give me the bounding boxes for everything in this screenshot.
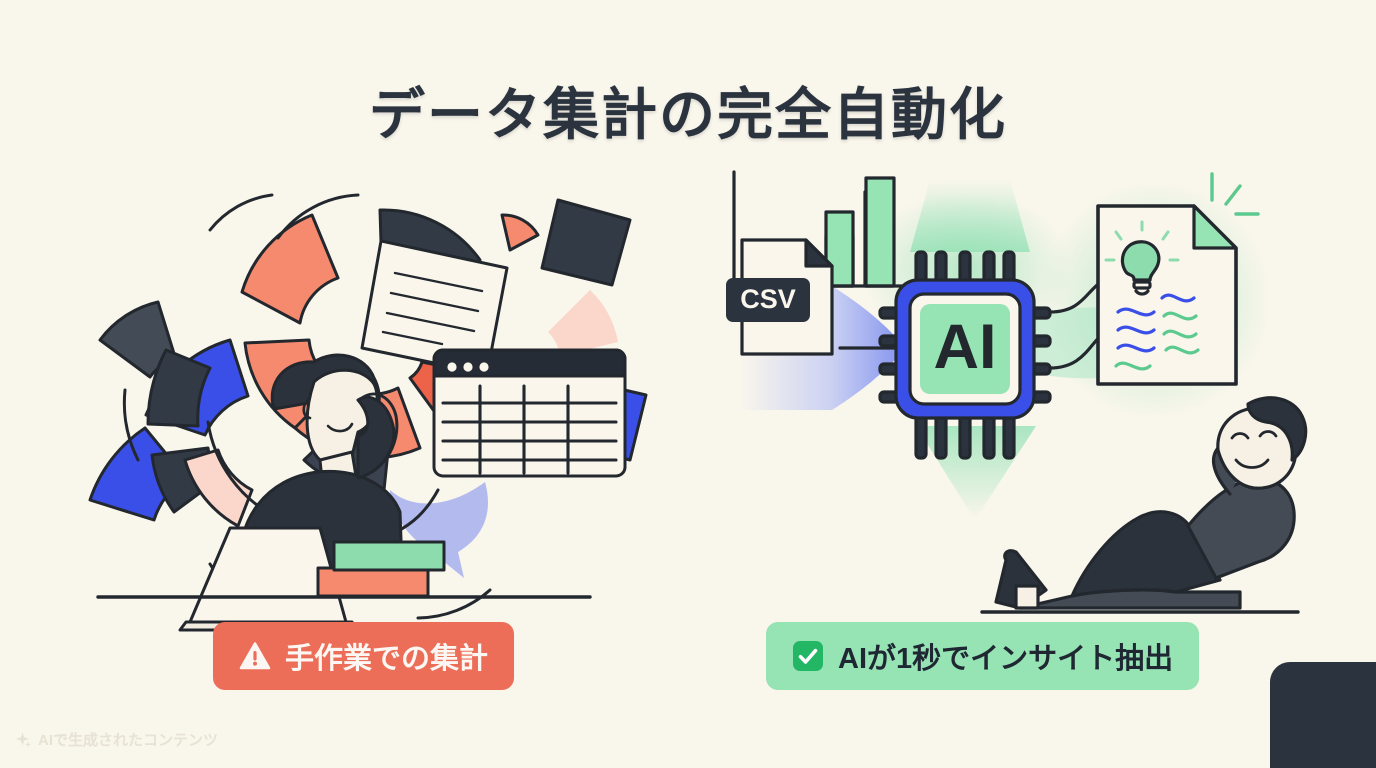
spreadsheet-window (434, 350, 625, 476)
bar-4 (866, 178, 894, 286)
left-panel (90, 160, 660, 630)
slide-canvas: データ集計の完全自動化 (0, 0, 1376, 768)
ai-generated-footer-label: AIで生成されたコンテンツ (38, 729, 218, 750)
right-panel: CSV (720, 160, 1300, 630)
status-badge-ai-label: AIが1秒でインサイト抽出 (838, 635, 1173, 677)
status-badge-manual-label: 手作業での集計 (285, 635, 488, 677)
beam-down (916, 426, 1036, 520)
status-badge-manual[interactable]: 手作業での集計 (213, 622, 514, 690)
beam-up (910, 180, 1030, 252)
ai-automation-illustration: CSV (720, 160, 1300, 630)
manual-aggregation-chaos-illustration (90, 160, 660, 630)
warning-triangle-icon (239, 640, 271, 672)
status-badge-ai[interactable]: AIが1秒でインサイト抽出 (766, 622, 1199, 690)
chip-label: AI (934, 312, 997, 382)
corner-triangle (1240, 630, 1376, 768)
check-square-icon (792, 640, 824, 672)
ai-generated-footer: AIで生成されたコンテンツ (14, 729, 218, 750)
bar-chart-bars (826, 178, 894, 286)
page-title: データ集計の完全自動化 (0, 70, 1376, 151)
csv-label: CSV (740, 284, 796, 314)
ai-chip: AI (896, 280, 1034, 418)
sparkle-icon (14, 731, 31, 748)
stacked-books (318, 542, 444, 596)
csv-file-icon: CSV (726, 240, 832, 354)
insight-document (1098, 174, 1258, 384)
